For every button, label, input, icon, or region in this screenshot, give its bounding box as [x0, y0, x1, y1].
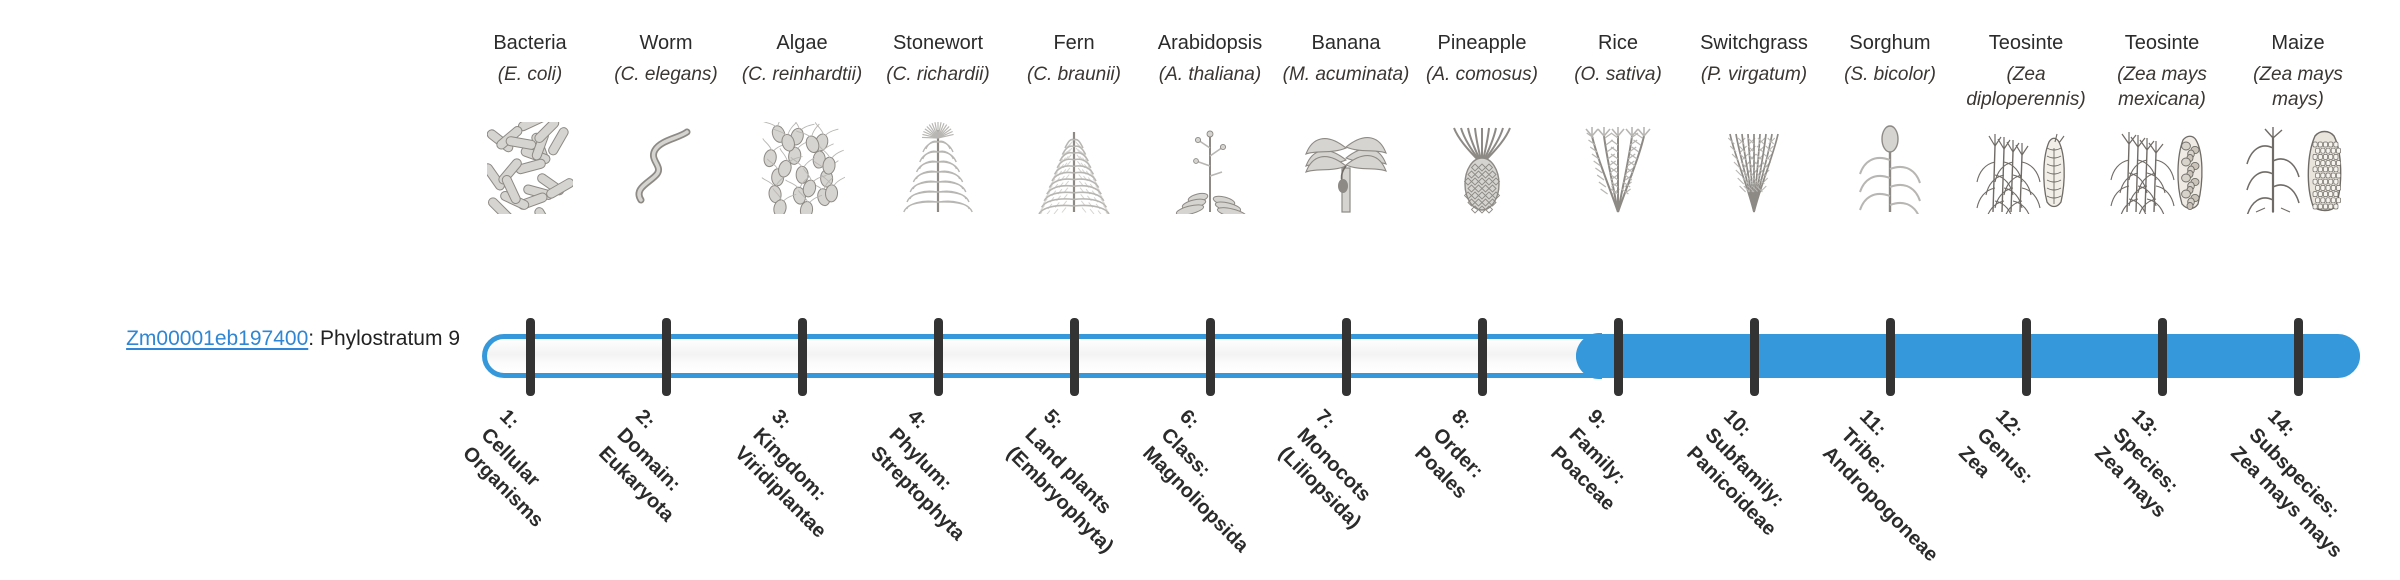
organism-column: Arabidopsis(A. thaliana) [1142, 30, 1278, 218]
organism-column: Algae(C. reinhardtii) [734, 30, 870, 218]
organism-column: Rice(O. sativa) [1550, 30, 1686, 218]
gene-phylostratum-label: Zm00001eb197400: Phylostratum 9 [30, 327, 460, 351]
organism-common-name: Sorghum [1822, 30, 1958, 58]
phylostratum-tick[interactable] [1342, 318, 1351, 396]
phylostratum-tick[interactable] [934, 318, 943, 396]
organism-column: Fern(C. braunii) [1006, 30, 1142, 218]
organism-column: Banana(M. acuminata) [1278, 30, 1414, 218]
organism-scientific-name: (C. elegans) [598, 62, 734, 116]
organism-column: Maize(Zea mays mays) [2230, 30, 2366, 218]
bacteria-rods-illustration [462, 122, 598, 218]
organism-column: Worm(C. elegans) [598, 30, 734, 218]
phylostratum-tick[interactable] [2294, 318, 2303, 396]
banana-plant-illustration [1278, 122, 1414, 218]
pineapple-fruit-illustration [1414, 122, 1550, 218]
sorghum-plant-illustration [1822, 122, 1958, 218]
gene-id-link[interactable]: Zm00001eb197400 [126, 327, 308, 350]
organism-common-name: Worm [598, 30, 734, 58]
organism-common-name: Rice [1550, 30, 1686, 58]
fern-frond-illustration [1006, 122, 1142, 218]
organism-common-name: Stonewort [870, 30, 1006, 58]
phylostratum-tick[interactable] [1478, 318, 1487, 396]
organism-common-name: Teosinte [1958, 30, 2094, 58]
switchgrass-plant-illustration [1686, 122, 1822, 218]
organism-common-name: Teosinte [2094, 30, 2230, 58]
organism-column: Switchgrass(P. virgatum) [1686, 30, 1822, 218]
phylostratum-tick[interactable] [1886, 318, 1895, 396]
organism-common-name: Maize [2230, 30, 2366, 58]
organism-common-name: Algae [734, 30, 870, 58]
phylostratum-tick[interactable] [798, 318, 807, 396]
organism-scientific-name: (M. acuminata) [1278, 62, 1414, 116]
teosinte-mexicana-plant-and-ear-illustration [2094, 122, 2230, 218]
stonewort-plant-illustration [870, 122, 1006, 218]
organism-common-name: Pineapple [1414, 30, 1550, 58]
phylostratum-tick[interactable] [1070, 318, 1079, 396]
nematode-worm-illustration [598, 122, 734, 218]
organism-column: Stonewort(C. richardii) [870, 30, 1006, 218]
organism-scientific-name: (P. virgatum) [1686, 62, 1822, 116]
phylostratum-chart: Zm00001eb197400: Phylostratum 9 Bacteria… [0, 0, 2400, 580]
organism-column: Bacteria(E. coli) [462, 30, 598, 218]
phylostratum-tick[interactable] [2022, 318, 2031, 396]
organism-common-name: Fern [1006, 30, 1142, 58]
organism-scientific-name: (Zea mays mexicana) [2094, 62, 2230, 116]
organism-column: Pineapple(A. comosus) [1414, 30, 1550, 218]
organism-scientific-name: (A. comosus) [1414, 62, 1550, 116]
organism-scientific-name: (C. richardii) [870, 62, 1006, 116]
organism-scientific-name: (E. coli) [462, 62, 598, 116]
organism-scientific-name: (O. sativa) [1550, 62, 1686, 116]
organism-common-name: Switchgrass [1686, 30, 1822, 58]
organism-scientific-name: (S. bicolor) [1822, 62, 1958, 116]
arabidopsis-plant-illustration [1142, 122, 1278, 218]
organism-scientific-name: (Zea diploperennis) [1958, 62, 2094, 116]
organism-column: Teosinte(Zea mays mexicana) [2094, 30, 2230, 218]
phylostratum-tick[interactable] [526, 318, 535, 396]
maize-plant-and-cob-illustration [2230, 122, 2366, 218]
phylostratum-tick[interactable] [1750, 318, 1759, 396]
phylostratum-bar-fill [1576, 338, 2360, 374]
phylostratum-bar-track[interactable] [482, 334, 2360, 378]
organism-column: Sorghum(S. bicolor) [1822, 30, 1958, 218]
organism-scientific-name: (C. reinhardtii) [734, 62, 870, 116]
organism-column: Teosinte(Zea diploperennis) [1958, 30, 2094, 218]
organism-scientific-name: (Zea mays mays) [2230, 62, 2366, 116]
organism-common-name: Bacteria [462, 30, 598, 58]
organism-scientific-name: (C. braunii) [1006, 62, 1142, 116]
organism-scientific-name: (A. thaliana) [1142, 62, 1278, 116]
phylostratum-tick[interactable] [2158, 318, 2167, 396]
gene-label-separator: : [308, 327, 320, 350]
organism-common-name: Arabidopsis [1142, 30, 1278, 58]
phylostratum-tick[interactable] [1614, 318, 1623, 396]
teosinte-plant-and-ear-illustration [1958, 122, 2094, 218]
rice-plant-illustration [1550, 122, 1686, 218]
phylostratum-tick[interactable] [1206, 318, 1215, 396]
green-algae-cells-illustration [734, 122, 870, 218]
phylostratum-value: Phylostratum 9 [320, 327, 460, 350]
organism-common-name: Banana [1278, 30, 1414, 58]
phylostratum-tick[interactable] [662, 318, 671, 396]
